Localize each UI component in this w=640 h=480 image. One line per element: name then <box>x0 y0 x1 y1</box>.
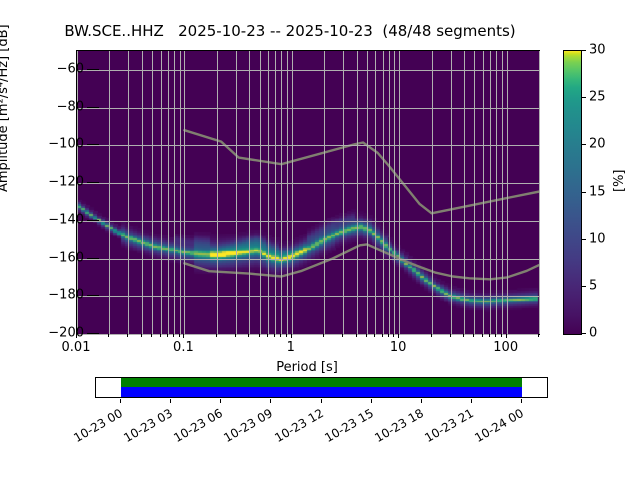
nhnm-curve <box>184 130 539 213</box>
y-tick <box>87 182 99 183</box>
x-minor-tick <box>450 334 451 337</box>
x-gridline <box>375 51 376 334</box>
x-tick-label: 10 <box>390 340 407 355</box>
x-minor-tick <box>482 334 483 337</box>
x-minor-tick <box>382 334 383 337</box>
x-gridline <box>275 51 276 334</box>
y-axis-label: Amplitude [m²/s⁴/Hz] [dB] <box>0 24 11 192</box>
x-gridline <box>496 51 497 334</box>
x-gridline <box>287 51 288 334</box>
coverage-tick-label: 10-23 15 <box>322 406 376 445</box>
x-minor-tick <box>160 334 161 337</box>
coverage-tick-label: 10-23 03 <box>121 406 175 445</box>
x-gridline <box>539 51 540 334</box>
x-minor-tick <box>342 334 343 337</box>
colorbar-tick-label: 30 <box>589 43 606 58</box>
x-gridline <box>236 51 237 334</box>
y-tick-label: −160 <box>48 250 84 265</box>
y-gridline <box>77 108 539 109</box>
coverage-tick <box>421 399 422 403</box>
x-tick <box>76 334 77 338</box>
x-tick <box>398 334 399 338</box>
colorbar-tick <box>581 286 586 287</box>
x-gridline <box>367 51 368 334</box>
x-minor-tick <box>463 334 464 337</box>
x-minor-tick <box>388 334 389 337</box>
colorbar-label: [%] <box>612 170 627 193</box>
x-gridline <box>217 51 218 334</box>
x-minor-tick <box>323 334 324 337</box>
colorbar-tick-label: 0 <box>589 326 597 341</box>
x-minor-tick <box>286 334 287 337</box>
coverage-tick-label: 10-23 18 <box>372 406 426 445</box>
coverage-tick-label: 10-23 21 <box>422 406 476 445</box>
y-gridline <box>77 183 539 184</box>
y-tick <box>87 69 99 70</box>
x-gridline <box>180 51 181 334</box>
x-minor-tick <box>274 334 275 337</box>
x-tick <box>183 334 184 338</box>
x-gridline <box>161 51 162 334</box>
x-gridline <box>109 51 110 334</box>
x-minor-tick <box>108 334 109 337</box>
x-minor-tick <box>393 334 394 337</box>
x-gridline <box>507 51 508 334</box>
y-tick <box>87 258 99 259</box>
y-tick-label: −60 <box>57 61 84 76</box>
x-gridline <box>474 51 475 334</box>
y-gridline <box>77 70 539 71</box>
y-tick <box>87 333 99 334</box>
x-tick-label: 1 <box>287 340 295 355</box>
x-minor-tick <box>151 334 152 337</box>
x-tick <box>506 334 507 338</box>
x-gridline <box>174 51 175 334</box>
y-tick-label: −200 <box>48 326 84 341</box>
coverage-tick-label: 10-23 06 <box>172 406 226 445</box>
coverage-bar-available <box>121 387 522 397</box>
x-minor-tick <box>259 334 260 337</box>
y-tick-label: −80 <box>57 99 84 114</box>
y-tick <box>87 295 99 296</box>
coverage-tick <box>220 399 221 403</box>
x-gridline <box>483 51 484 334</box>
y-tick-label: −180 <box>48 288 84 303</box>
colorbar-tick <box>581 144 586 145</box>
x-minor-tick <box>280 334 281 337</box>
coverage-tick <box>371 399 372 403</box>
y-gridline <box>77 334 539 335</box>
x-tick <box>291 334 292 338</box>
coverage-tick <box>521 399 522 403</box>
colorbar-tick <box>581 239 586 240</box>
y-tick-label: −140 <box>48 212 84 227</box>
coverage-tick <box>321 399 322 403</box>
x-gridline <box>343 51 344 334</box>
x-minor-tick <box>374 334 375 337</box>
y-tick <box>87 144 99 145</box>
y-gridline <box>77 296 539 297</box>
x-gridline <box>432 51 433 334</box>
coverage-tick <box>170 399 171 403</box>
colorbar-tick <box>581 50 586 51</box>
x-minor-tick <box>179 334 180 337</box>
x-gridline <box>142 51 143 334</box>
x-axis-label: Period [s] <box>76 360 538 375</box>
ppsd-figure: BW.SCE..HHZ 2025-10-23 -- 2025-10-23 (48… <box>0 0 640 480</box>
x-minor-tick <box>173 334 174 337</box>
y-gridline <box>77 221 539 222</box>
x-gridline <box>451 51 452 334</box>
ppsd-density-axes <box>76 50 540 335</box>
x-tick-label: 0.1 <box>173 340 194 355</box>
colorbar-tick-label: 25 <box>589 90 606 105</box>
x-gridline <box>152 51 153 334</box>
colorbar-tick-label: 20 <box>589 137 606 152</box>
y-gridline <box>77 145 539 146</box>
x-minor-tick <box>489 334 490 337</box>
noise-model-curves <box>77 51 539 334</box>
y-tick-label: −120 <box>48 175 84 190</box>
coverage-axes <box>95 377 548 398</box>
x-minor-tick <box>167 334 168 337</box>
x-minor-tick <box>366 334 367 337</box>
colorbar-tick <box>581 192 586 193</box>
y-tick <box>87 107 99 108</box>
coverage-tick-label: 10-23 00 <box>71 406 125 445</box>
x-gridline <box>464 51 465 334</box>
x-minor-tick <box>216 334 217 337</box>
x-minor-tick <box>267 334 268 337</box>
y-tick-label: −100 <box>48 137 84 152</box>
x-gridline <box>281 51 282 334</box>
x-gridline <box>324 51 325 334</box>
x-gridline <box>502 51 503 334</box>
colorbar-tick-label: 15 <box>589 184 606 199</box>
x-tick-label: 0.01 <box>62 340 91 355</box>
figure-title: BW.SCE..HHZ 2025-10-23 -- 2025-10-23 (48… <box>0 22 580 40</box>
x-gridline <box>399 51 400 334</box>
colorbar-gradient <box>563 50 582 335</box>
y-gridline <box>77 259 539 260</box>
colorbar-tick <box>581 333 586 334</box>
x-minor-tick <box>538 334 539 337</box>
x-gridline <box>389 51 390 334</box>
x-minor-tick <box>141 334 142 337</box>
x-gridline <box>383 51 384 334</box>
x-minor-tick <box>235 334 236 337</box>
x-gridline <box>490 51 491 334</box>
coverage-bar-used <box>121 378 522 387</box>
x-minor-tick <box>495 334 496 337</box>
x-gridline <box>249 51 250 334</box>
x-gridline <box>292 51 293 334</box>
colorbar-tick-label: 10 <box>589 231 606 246</box>
nlnm-curve <box>184 244 539 279</box>
coverage-tick-label: 10-23 09 <box>222 406 276 445</box>
x-minor-tick <box>248 334 249 337</box>
coverage-tick-label: 10-23 12 <box>272 406 326 445</box>
colorbar-tick <box>581 97 586 98</box>
x-gridline <box>168 51 169 334</box>
colorbar-tick-label: 5 <box>589 278 597 293</box>
x-minor-tick <box>431 334 432 337</box>
x-minor-tick <box>473 334 474 337</box>
x-minor-tick <box>127 334 128 337</box>
coverage-tick <box>120 399 121 403</box>
y-tick <box>87 220 99 221</box>
coverage-tick <box>270 399 271 403</box>
x-gridline <box>260 51 261 334</box>
coverage-tick <box>471 399 472 403</box>
x-minor-tick <box>356 334 357 337</box>
x-tick-label: 100 <box>493 340 518 355</box>
x-gridline <box>268 51 269 334</box>
coverage-tick-label: 10-24 00 <box>472 406 526 445</box>
x-gridline <box>184 51 185 334</box>
x-gridline <box>357 51 358 334</box>
x-gridline <box>394 51 395 334</box>
x-gridline <box>128 51 129 334</box>
x-minor-tick <box>501 334 502 337</box>
